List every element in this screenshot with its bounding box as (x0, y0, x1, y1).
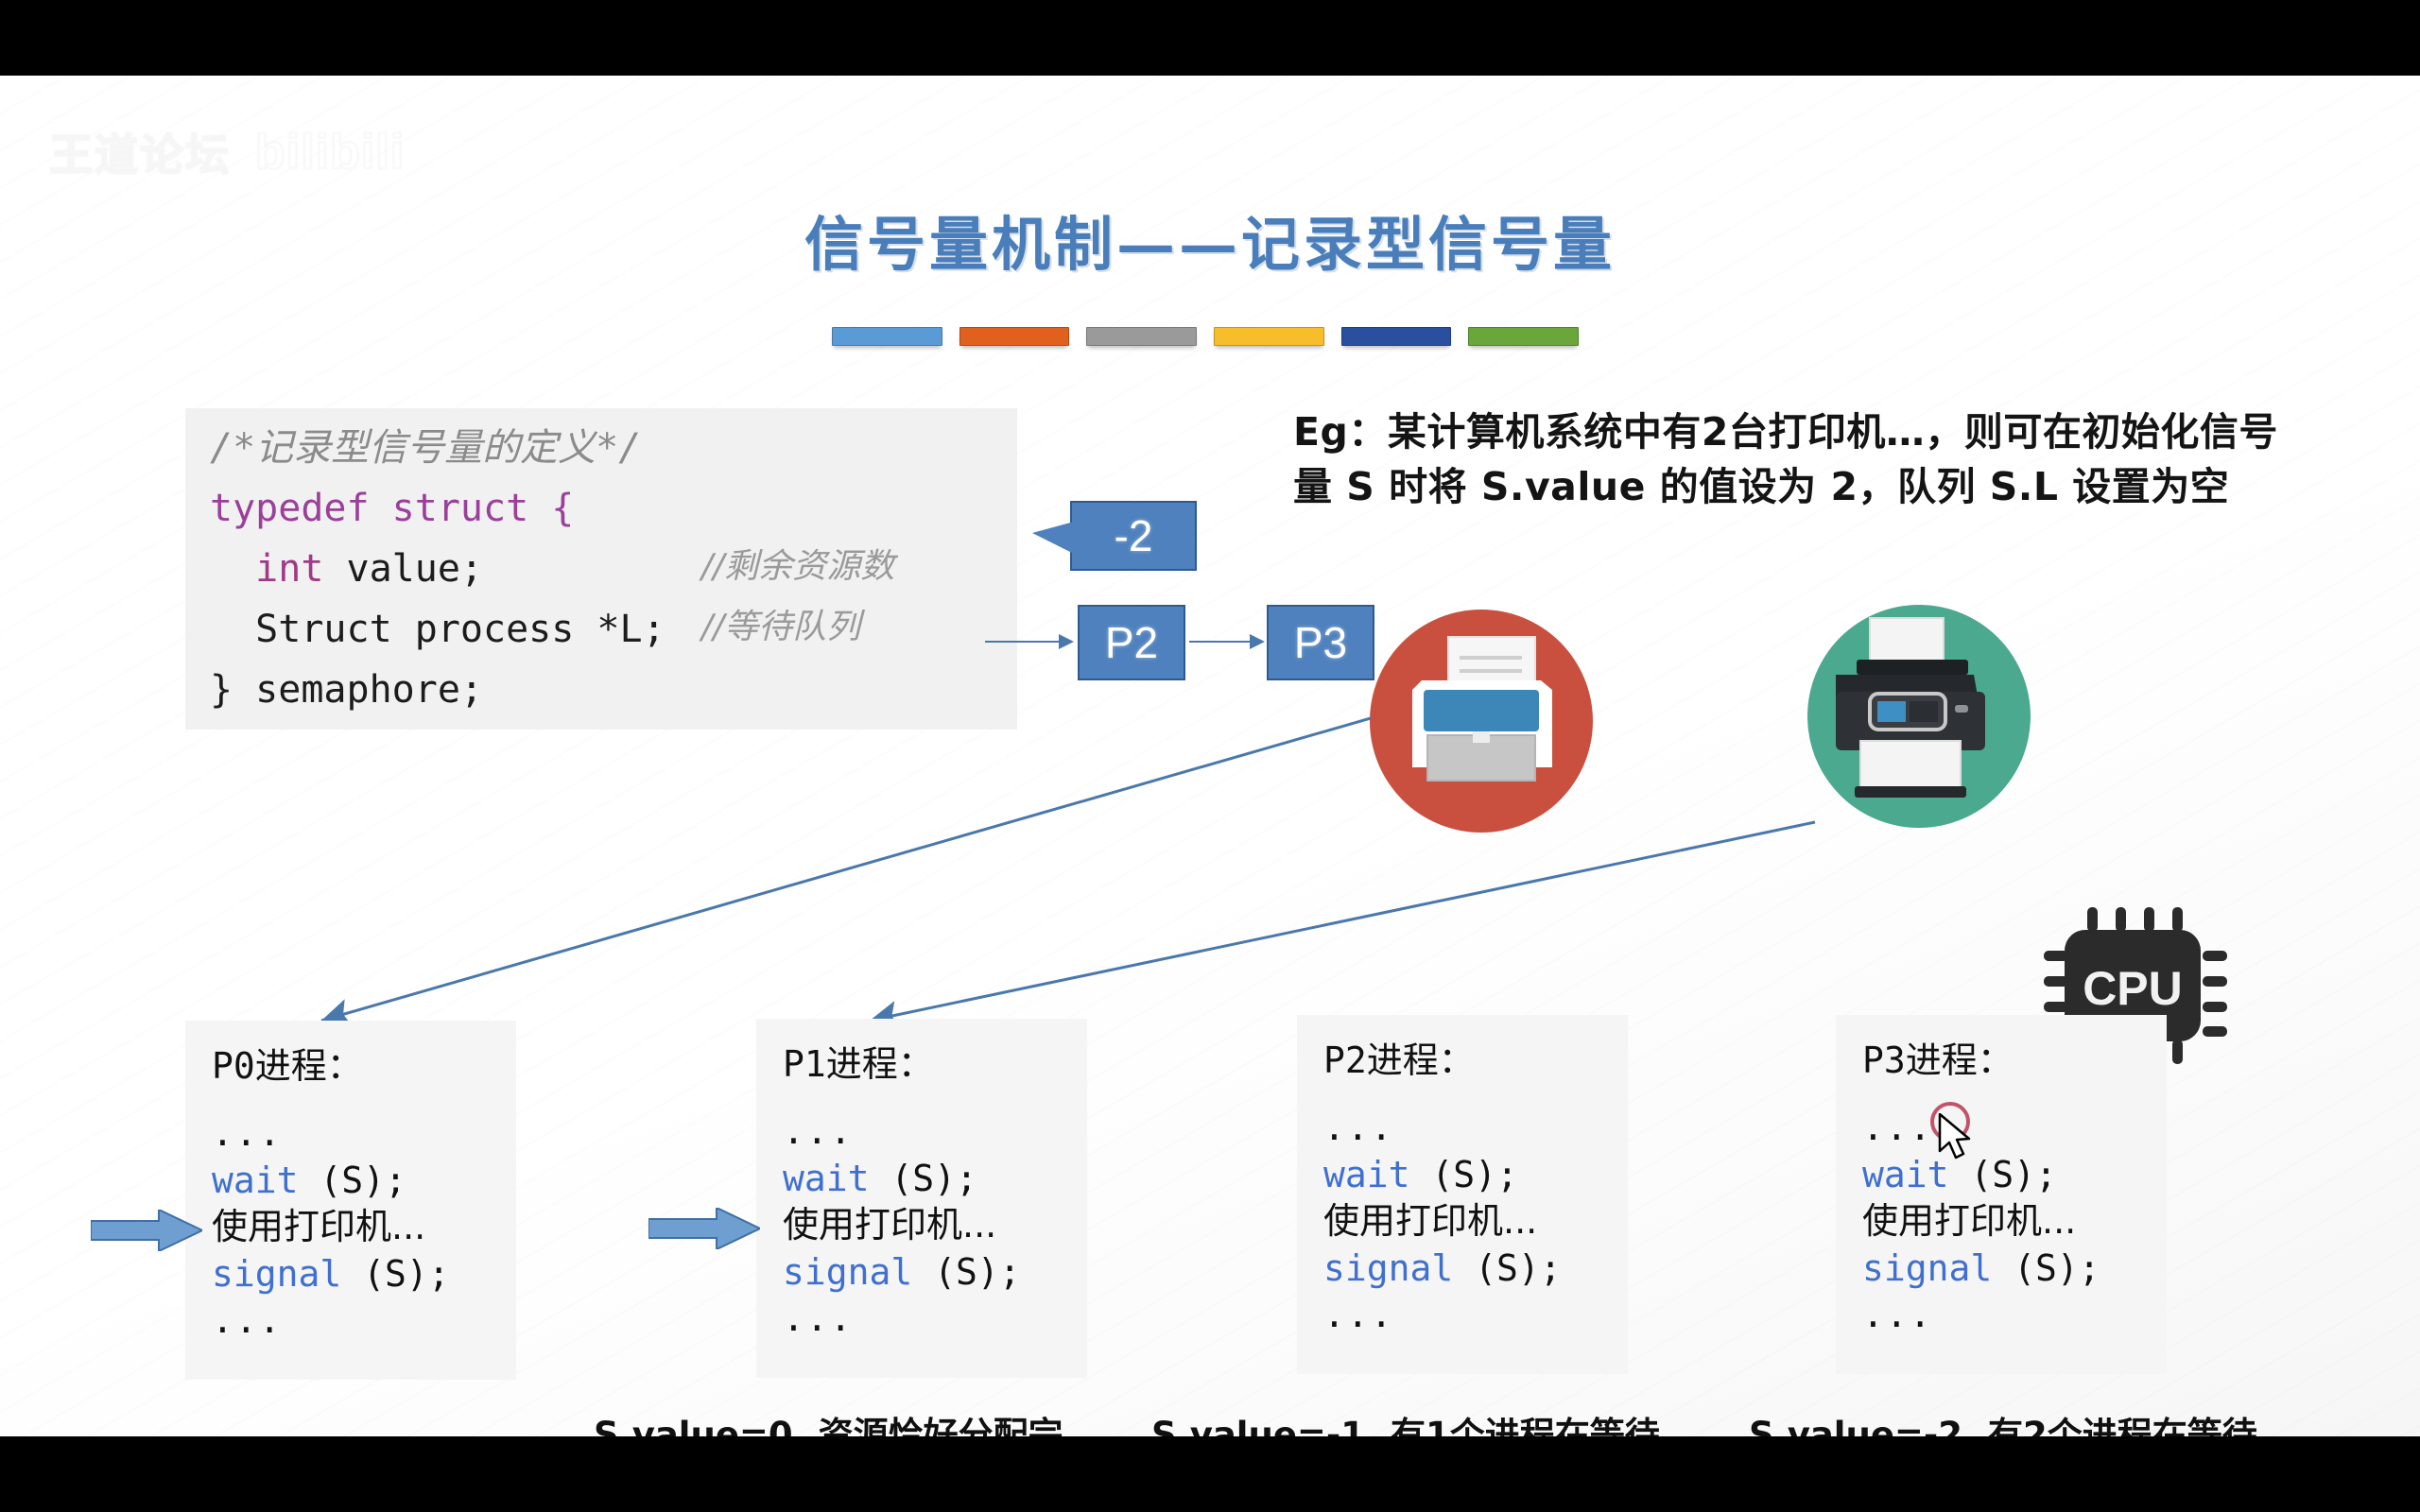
process-p2-signal-call: signal (1323, 1247, 1453, 1289)
caption-p0: S.value=0, 资源恰好分配完 (594, 1406, 1063, 1436)
process-p0-use-printer: 使用打印机... (212, 1204, 516, 1250)
process-p0-header: P0进程： (212, 1043, 516, 1090)
process-p3-dots-bottom: ... (1862, 1292, 2167, 1338)
process-block-p0: P0进程： ... wait (S); 使用打印机... signal (S);… (185, 1021, 516, 1380)
process-p0-signal-call: signal (212, 1253, 341, 1295)
process-p3-signal-arg: (S); (1992, 1247, 2100, 1289)
process-p1-signal-call: signal (783, 1251, 912, 1293)
process-p1-wait-call: wait (783, 1158, 870, 1199)
process-p3-header: P3进程： (1862, 1038, 2167, 1084)
process-p3-signal-call: signal (1862, 1247, 1992, 1289)
letterbox-bottom (0, 1436, 2420, 1512)
process-p1-dots-bottom: ... (783, 1296, 1087, 1342)
process-block-p1: P1进程： ... wait (S); 使用打印机... signal (S);… (756, 1019, 1087, 1378)
process-block-p3: P3进程： ... wait (S); 使用打印机... signal (S);… (1836, 1015, 2167, 1374)
video-frame: 王道论坛 bilibili 信号量机制——记录型信号量 /*记录型信号量的定义*… (0, 0, 2420, 1512)
process-p0-dots-bottom: ... (212, 1297, 516, 1344)
process-p0-dots-top: ... (212, 1110, 516, 1157)
process-p2-header: P2进程： (1323, 1038, 1628, 1084)
letterbox-top (0, 0, 2420, 76)
process-p1-header: P1进程： (783, 1041, 1087, 1088)
process-p1-use-printer: 使用打印机... (783, 1202, 1087, 1248)
process-p1-dots-top: ... (783, 1108, 1087, 1155)
mouse-cursor (1938, 1113, 1981, 1164)
process-p0-wait-call: wait (212, 1160, 299, 1201)
caption-p2: S.value=-2, 有2个进程在等待 (1749, 1406, 2257, 1436)
process-p1-signal-arg: (S); (912, 1251, 1020, 1293)
process-p2-signal-arg: (S); (1453, 1247, 1561, 1289)
process-block-p2: P2进程： ... wait (S); 使用打印机... signal (S);… (1297, 1015, 1628, 1374)
process-p2-wait-arg: (S); (1410, 1154, 1518, 1195)
caption-p1: S.value=-1, 有1个进程在等待 (1151, 1406, 1660, 1436)
process-p2-dots-bottom: ... (1323, 1292, 1628, 1338)
slide-canvas: 王道论坛 bilibili 信号量机制——记录型信号量 /*记录型信号量的定义*… (0, 76, 2420, 1436)
pointer-arrow-p0 (91, 1210, 202, 1251)
process-p1-wait-arg: (S); (870, 1158, 977, 1199)
pointer-arrow-p1 (648, 1208, 760, 1249)
process-p0-wait-arg: (S); (299, 1160, 406, 1201)
process-p3-dots-top: ... (1862, 1105, 2167, 1151)
process-p3-use-printer: 使用打印机... (1862, 1198, 2167, 1245)
process-p2-dots-top: ... (1323, 1105, 1628, 1151)
process-p2-wait-call: wait (1323, 1154, 1410, 1195)
process-p2-use-printer: 使用打印机... (1323, 1198, 1628, 1245)
process-p3-wait-call: wait (1862, 1154, 1949, 1195)
process-p0-signal-arg: (S); (341, 1253, 449, 1295)
